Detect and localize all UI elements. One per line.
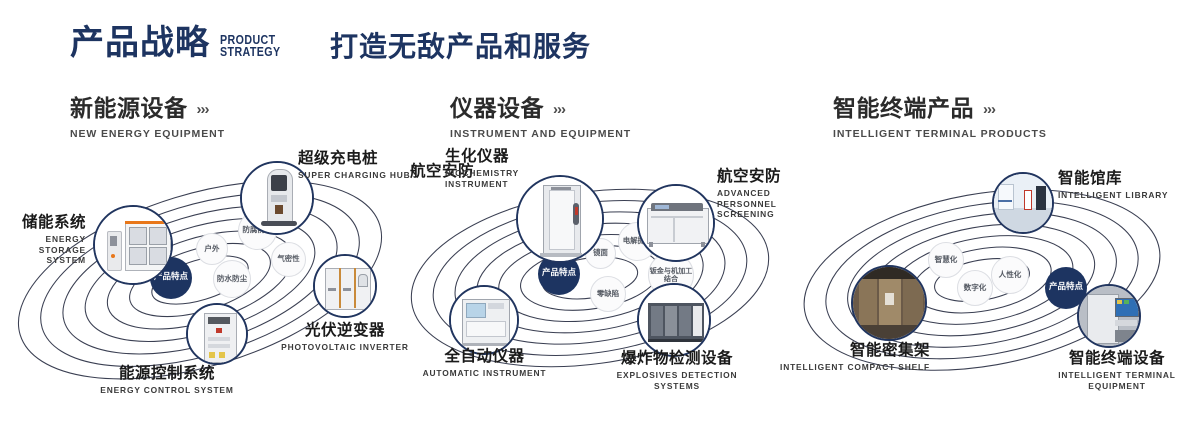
feature-bubble-zero-defect: 零缺陷: [590, 276, 626, 312]
section-header-instrument: 仪器设备 ››› INSTRUMENT AND EQUIPMENT: [450, 98, 631, 140]
node-energy-storage-system[interactable]: [93, 205, 173, 285]
node-advanced-personnel-screening[interactable]: [637, 184, 715, 262]
caption-intelligent-library: 智能馆库 INTELLIGENT LIBRARY: [1058, 170, 1168, 201]
section-header-new-energy: 新能源设备 ››› NEW ENERGY EQUIPMENT: [70, 98, 225, 140]
page-title-en-line2: STRATEGY: [220, 46, 281, 58]
caption-automatic-instrument: 全自动仪器 AUTOMATIC INSTRUMENT: [417, 348, 552, 379]
cluster-intelligent-terminal: 智慧化 数字化 人性化 产品特点 智能馆库 INTELLIGENT LIBRAR…: [800, 150, 1200, 415]
page-header: 产品战略 PRODUCT STRATEGY: [70, 26, 294, 60]
section-title-en: INTELLIGENT TERMINAL PRODUCTS: [833, 128, 1047, 140]
node-intelligent-terminal-equipment[interactable]: [1077, 284, 1141, 348]
product-strategy-infographic: 产品战略 PRODUCT STRATEGY 打造无敌产品和服务 新能源设备 ››…: [0, 0, 1200, 422]
section-title-cn: 智能终端产品 ›››: [833, 98, 1047, 121]
section-title-text: 仪器设备: [450, 98, 544, 121]
cluster-instrument: 产品特点 镜面 电解抛光 零缺陷 钣金与机加工结合 航空安防: [405, 150, 805, 415]
node-intelligent-library[interactable]: [992, 172, 1054, 234]
caption-explosives-detection: 爆炸物检测设备 EXPLOSIVES DETECTION SYSTEMS: [599, 350, 755, 391]
feature-bubble-intelligent: 智慧化: [928, 242, 964, 278]
feature-bubble-airtight: 气密性: [271, 242, 306, 277]
feature-bubble-outdoor: 户外: [196, 233, 228, 265]
feature-bubble-waterproof: 防水防尘: [213, 260, 251, 298]
section-title-cn: 仪器设备 ›››: [450, 98, 631, 121]
caption-super-charging-hub: 超级充电桩 SUPER CHARGING HUB: [298, 150, 411, 181]
caption-advanced-personnel-screening: 航空安防 ADVANCED PERSONNEL SCREENING: [717, 168, 807, 220]
node-intelligent-compact-shelf[interactable]: [851, 265, 927, 341]
caption-energy-control-system: 能源控制系统 ENERGY CONTROL SYSTEM: [82, 365, 252, 396]
chevron-right-icon: ›››: [983, 102, 995, 117]
section-title-text: 智能终端产品: [833, 98, 974, 121]
page-title-en: PRODUCT STRATEGY: [220, 34, 281, 58]
caption-intelligent-compact-shelf: 智能密集架 INTELLIGENT COMPACT SHELF: [780, 342, 930, 373]
section-title-text: 新能源设备: [70, 98, 188, 121]
section-title-en: INSTRUMENT AND EQUIPMENT: [450, 128, 631, 140]
caption-photovoltaic-inverter: 光伏逆变器 PHOTOVOLTAIC INVERTER: [277, 322, 413, 353]
node-energy-control-system[interactable]: [186, 303, 248, 365]
caption-energy-storage-system: 储能系统 ENERGY STORAGE SYSTEM: [0, 214, 86, 266]
caption-biochemistry-instrument: 生化仪器 BIOCHEMISTRY INSTRUMENT: [445, 148, 531, 189]
section-title-en: NEW ENERGY EQUIPMENT: [70, 128, 225, 140]
cluster-new-energy: 产品特点 户外 防腐防锈 防水防尘 气密性: [0, 150, 430, 415]
chevron-right-icon: ›››: [197, 102, 209, 117]
feature-bubble-humanized: 人性化: [991, 256, 1029, 294]
page-slogan: 打造无敌产品和服务: [330, 33, 591, 61]
section-title-cn: 新能源设备 ›››: [70, 98, 225, 121]
node-automatic-instrument[interactable]: [449, 285, 519, 355]
caption-intelligent-terminal-equipment: 智能终端设备 INTELLIGENT TERMINAL EQUIPMENT: [1032, 350, 1200, 391]
page-title: 产品战略: [70, 26, 210, 60]
feature-bubble-digital: 数字化: [957, 270, 993, 306]
section-header-intelligent-terminal: 智能终端产品 ››› INTELLIGENT TERMINAL PRODUCTS: [833, 98, 1047, 140]
chevron-right-icon: ›››: [553, 102, 565, 117]
node-photovoltaic-inverter[interactable]: [313, 254, 377, 318]
node-explosives-detection[interactable]: [637, 283, 711, 357]
